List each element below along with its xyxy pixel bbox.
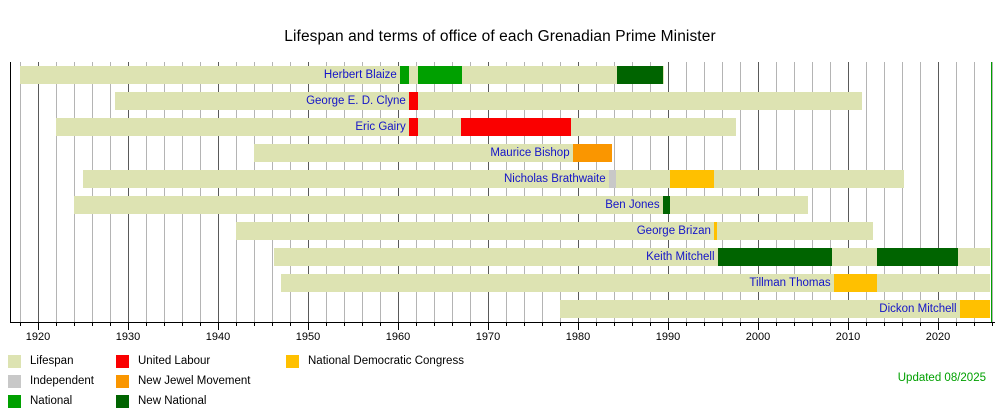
axis-tick-major: [668, 322, 669, 330]
axis-tick-major: [848, 322, 849, 330]
axis-tick-label: 1920: [26, 331, 50, 343]
axis-tick-minor: [344, 322, 345, 326]
axis-tick-label: 1990: [656, 331, 680, 343]
swatch-new-national-icon: [116, 395, 129, 408]
axis-tick-major: [218, 322, 219, 330]
axis-tick-minor: [92, 322, 93, 326]
axis-tick-label: 1940: [206, 331, 230, 343]
axis-tick-minor: [560, 322, 561, 326]
timeline-row[interactable]: Maurice Bishop: [0, 140, 1000, 166]
axis-tick-label: 2020: [926, 331, 950, 343]
timeline-row[interactable]: Tillman Thomas: [0, 270, 1000, 296]
legend-label: National Democratic Congress: [308, 352, 464, 370]
axis-tick-label: 1980: [566, 331, 590, 343]
axis-tick-label: 2010: [836, 331, 860, 343]
term-segment-new-jewel-movement[interactable]: [573, 144, 613, 162]
axis-tick-minor: [902, 322, 903, 326]
axis-tick-minor: [722, 322, 723, 326]
axis-tick-minor: [704, 322, 705, 326]
timeline-row[interactable]: Eric Gairy: [0, 114, 1000, 140]
axis-tick-minor: [992, 322, 993, 326]
axis-tick-label: 1930: [116, 331, 140, 343]
row-label: Dickon Mitchell: [0, 301, 957, 319]
axis-tick-minor: [164, 322, 165, 326]
axis-tick-label: 1970: [476, 331, 500, 343]
axis-tick-minor: [146, 322, 147, 326]
axis-tick-major: [128, 322, 129, 330]
term-segment-new-national[interactable]: [617, 66, 663, 84]
axis-tick-minor: [686, 322, 687, 326]
term-segment-new-national[interactable]: [718, 248, 832, 266]
legend-label: New Jewel Movement: [138, 372, 250, 390]
timeline-plot-area: Herbert BlaizeGeorge E. D. ClyneEric Gai…: [0, 62, 1000, 322]
legend-label: Lifespan: [30, 352, 73, 370]
axis-tick-minor: [524, 322, 525, 326]
swatch-ndc-icon: [286, 355, 299, 368]
swatch-lifespan-icon: [8, 355, 21, 368]
axis-tick-minor: [362, 322, 363, 326]
axis-tick-label: 1950: [296, 331, 320, 343]
timeline-row[interactable]: Nicholas Brathwaite: [0, 166, 1000, 192]
row-label: George E. D. Clyne: [0, 93, 406, 111]
axis-tick-minor: [182, 322, 183, 326]
legend-label: New National: [138, 392, 206, 410]
term-segment-united-labour[interactable]: [409, 118, 418, 136]
timeline-row[interactable]: Herbert Blaize: [0, 62, 1000, 88]
swatch-new-jewel-movement-icon: [116, 375, 129, 388]
axis-tick-minor: [794, 322, 795, 326]
axis-tick-major: [38, 322, 39, 330]
row-label: Eric Gairy: [0, 119, 406, 137]
swatch-national-icon: [8, 395, 21, 408]
axis-tick-label: 1960: [386, 331, 410, 343]
term-segment-national-democratic-congress[interactable]: [670, 170, 714, 188]
axis-tick-minor: [884, 322, 885, 326]
row-label: George Brizan: [0, 223, 711, 241]
axis-tick-minor: [236, 322, 237, 326]
axis-tick-minor: [20, 322, 21, 326]
axis-tick-minor: [200, 322, 201, 326]
row-label: Herbert Blaize: [0, 67, 397, 85]
axis-tick-major: [938, 322, 939, 330]
axis-tick-minor: [56, 322, 57, 326]
row-label: Nicholas Brathwaite: [0, 171, 606, 189]
term-segment-united-labour[interactable]: [409, 92, 418, 110]
axis-tick-minor: [254, 322, 255, 326]
updated-stamp: Updated 08/2025: [898, 372, 986, 384]
axis-tick-minor: [110, 322, 111, 326]
axis-tick-minor: [326, 322, 327, 326]
term-segment-national-democratic-congress[interactable]: [960, 300, 991, 318]
axis-tick-minor: [614, 322, 615, 326]
term-segment-national[interactable]: [418, 66, 462, 84]
timeline-row[interactable]: Dickon Mitchell: [0, 296, 1000, 322]
term-segment-national-democratic-congress[interactable]: [714, 222, 718, 240]
term-segment-united-labour[interactable]: [461, 118, 571, 136]
swatch-united-labour-icon: [116, 355, 129, 368]
axis-tick-major: [488, 322, 489, 330]
axis-tick-minor: [470, 322, 471, 326]
timeline-row[interactable]: Ben Jones: [0, 192, 1000, 218]
axis-tick-label: 2000: [746, 331, 770, 343]
axis-tick-minor: [632, 322, 633, 326]
legend-label: National: [30, 392, 72, 410]
axis-tick-minor: [812, 322, 813, 326]
axis-tick-minor: [74, 322, 75, 326]
legend-label: United Labour: [138, 352, 210, 370]
term-segment-national-democratic-congress[interactable]: [834, 274, 877, 292]
axis-tick-major: [578, 322, 579, 330]
axis-tick-minor: [506, 322, 507, 326]
axis-tick-minor: [650, 322, 651, 326]
swatch-independent-icon: [8, 375, 21, 388]
term-segment-new-national[interactable]: [877, 248, 958, 266]
axis-tick-minor: [866, 322, 867, 326]
row-label: Ben Jones: [0, 197, 660, 215]
axis-tick-minor: [452, 322, 453, 326]
timeline-row[interactable]: George Brizan: [0, 218, 1000, 244]
axis-tick-minor: [542, 322, 543, 326]
axis-tick-minor: [776, 322, 777, 326]
axis-tick-minor: [272, 322, 273, 326]
row-label: Maurice Bishop: [0, 145, 570, 163]
axis-tick-minor: [434, 322, 435, 326]
axis-tick-minor: [290, 322, 291, 326]
axis-tick-major: [398, 322, 399, 330]
timeline-row[interactable]: Keith Mitchell: [0, 244, 1000, 270]
axis-tick-minor: [740, 322, 741, 326]
axis-tick-major: [308, 322, 309, 330]
axis-tick-major: [758, 322, 759, 330]
axis-tick-minor: [974, 322, 975, 326]
row-label: Tillman Thomas: [0, 275, 831, 293]
term-segment-independent[interactable]: [609, 170, 616, 188]
page-title: Lifespan and terms of office of each Gre…: [0, 28, 1000, 46]
legend-label: Independent: [30, 372, 94, 390]
term-segment-new-national[interactable]: [663, 196, 670, 214]
axis-tick-minor: [830, 322, 831, 326]
axis-tick-minor: [956, 322, 957, 326]
term-segment-national[interactable]: [400, 66, 409, 84]
x-axis: 1920193019401950196019701980199020002010…: [0, 322, 1000, 348]
row-label: Keith Mitchell: [0, 249, 715, 267]
timeline-rows: Herbert BlaizeGeorge E. D. ClyneEric Gai…: [0, 62, 1000, 322]
axis-tick-minor: [380, 322, 381, 326]
axis-tick-minor: [920, 322, 921, 326]
timeline-row[interactable]: George E. D. Clyne: [0, 88, 1000, 114]
axis-tick-minor: [416, 322, 417, 326]
axis-tick-minor: [596, 322, 597, 326]
